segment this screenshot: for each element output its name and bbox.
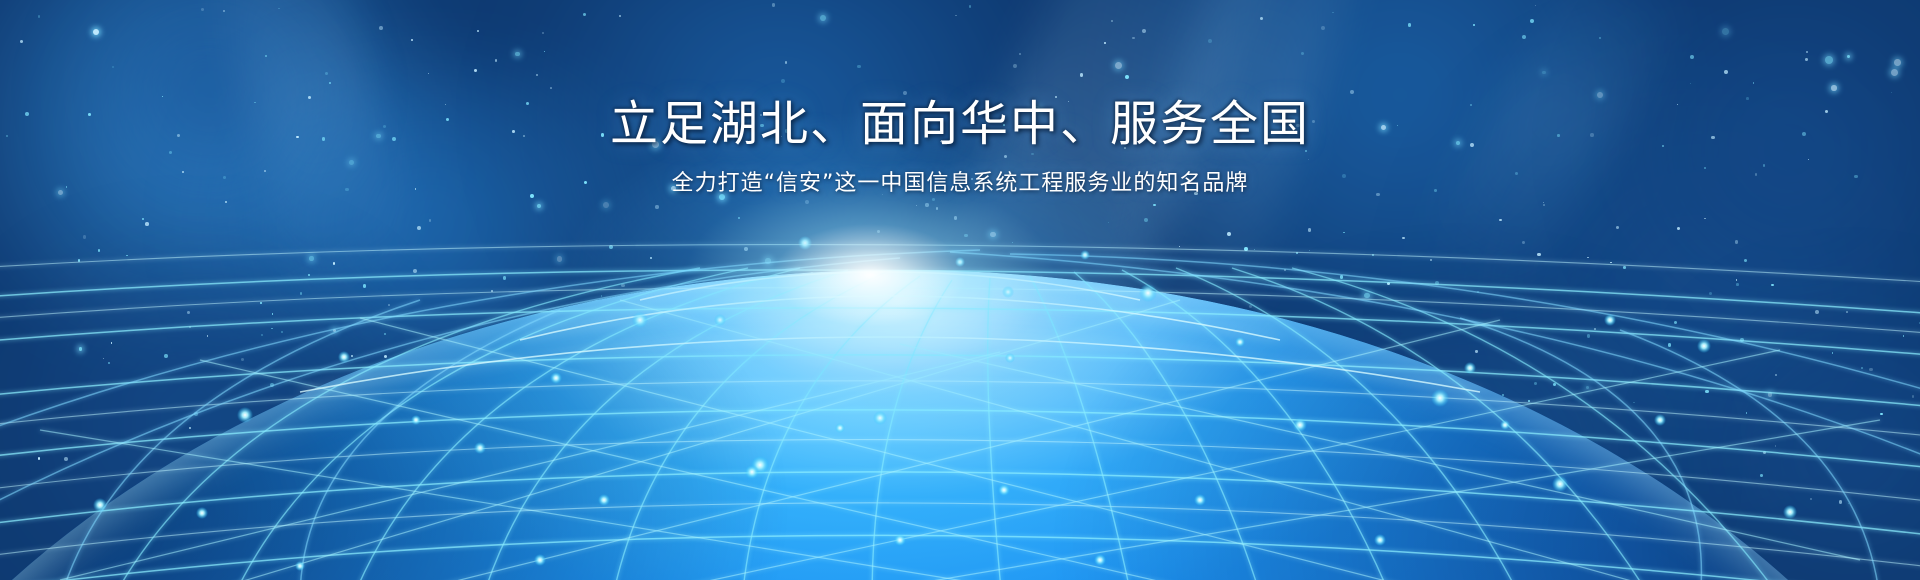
banner-copy: 立足湖北、面向华中、服务全国 全力打造“信安”这一中国信息系统工程服务业的知名品…	[0, 96, 1920, 198]
banner-headline: 立足湖北、面向华中、服务全国	[0, 96, 1920, 152]
network-connection-mesh	[0, 0, 1920, 580]
banner-subheadline: 全力打造“信安”这一中国信息系统工程服务业的知名品牌	[0, 170, 1920, 198]
hero-banner: 立足湖北、面向华中、服务全国 全力打造“信安”这一中国信息系统工程服务业的知名品…	[0, 0, 1920, 580]
